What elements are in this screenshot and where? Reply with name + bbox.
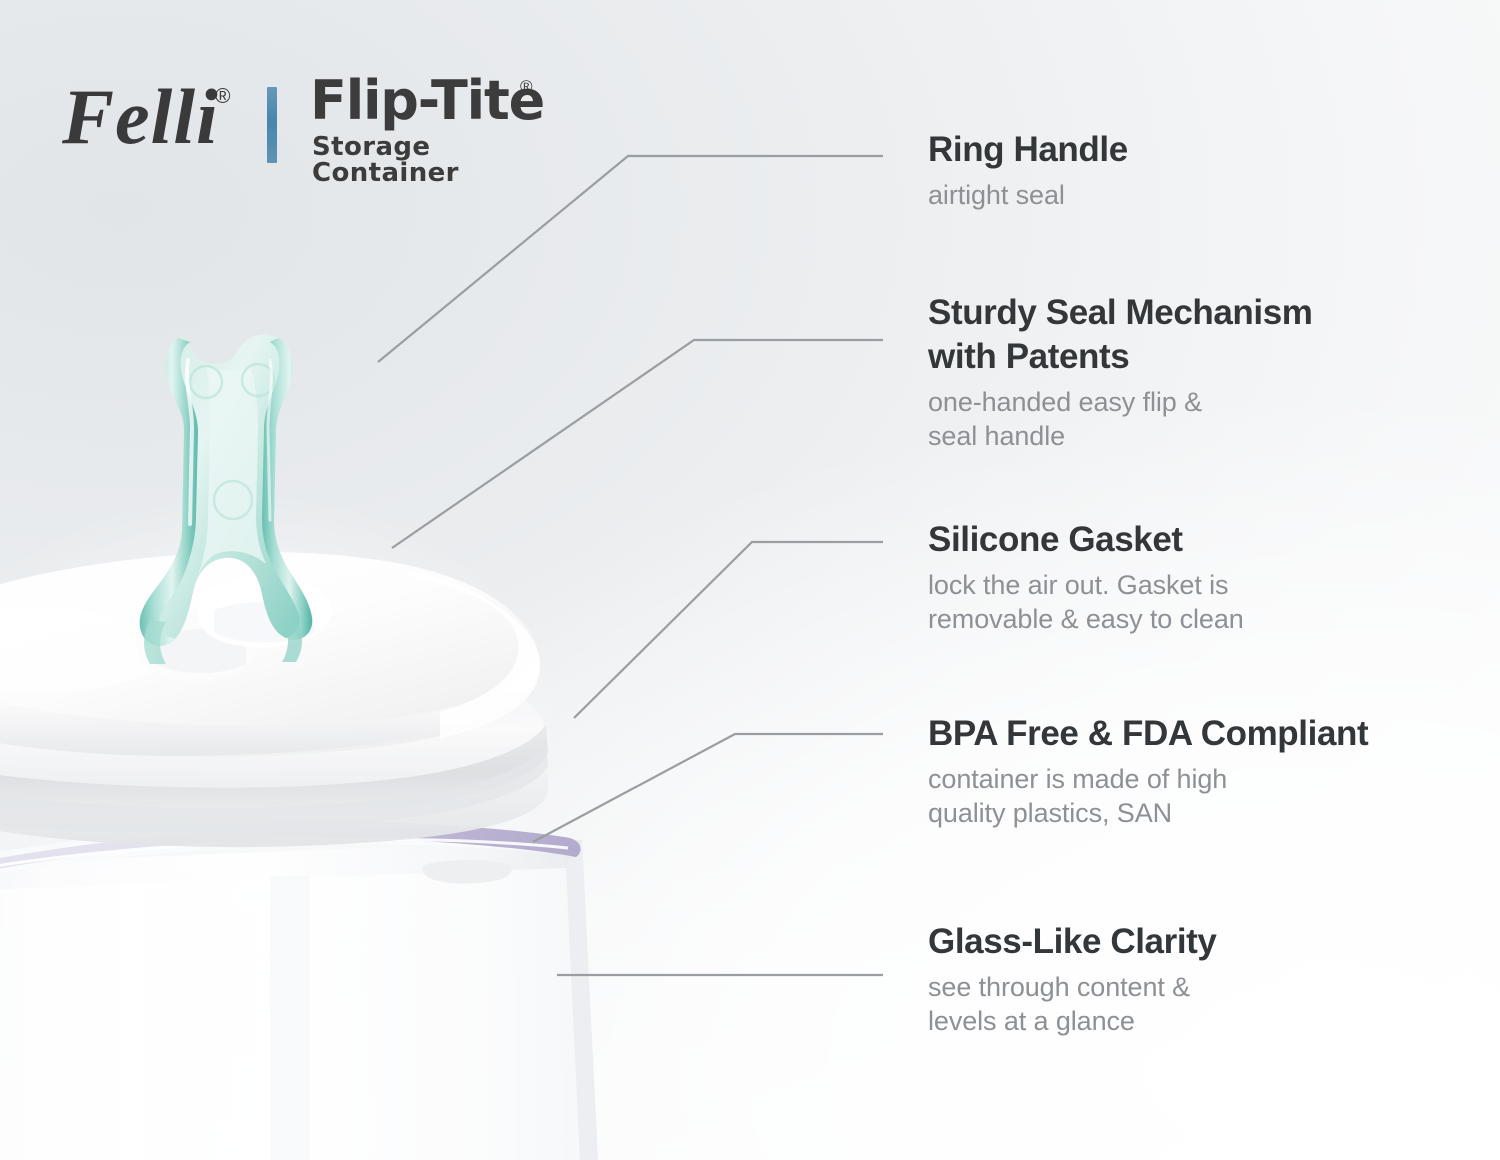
callout-subtitle: one-handed easy flip & seal handle [928, 385, 1313, 453]
callout-ring-handle: Ring Handle airtight seal [928, 128, 1128, 212]
registered-trademark-icon: ® [215, 86, 230, 107]
callout-title: Glass-Like Clarity [928, 920, 1217, 964]
callout-subtitle: lock the air out. Gasket is removable & … [928, 568, 1244, 636]
callout-title: Sturdy Seal Mechanism with Patents [928, 291, 1313, 379]
callout-subtitle: airtight seal [928, 178, 1128, 212]
brand-logo: Felli ® Flip-Tite ® Storage Container [62, 72, 562, 187]
product-line-name: Flip-Tite [310, 74, 544, 128]
logo-divider-bar [267, 87, 277, 163]
callout-subtitle: see through content & levels at a glance [928, 970, 1217, 1038]
brand-tagline: Storage Container [312, 134, 562, 186]
callout-subtitle: container is made of high quality plasti… [928, 762, 1368, 830]
product-registered-trademark-icon: ® [520, 78, 533, 95]
brand-name: Felli [62, 78, 219, 156]
product-infographic: Felli ® Flip-Tite ® Storage Container Ri… [0, 0, 1500, 1160]
callout-title: BPA Free & FDA Compliant [928, 712, 1368, 756]
callout-sturdy-seal-mechanism: Sturdy Seal Mechanism with Patents one-h… [928, 291, 1313, 453]
callout-glass-like-clarity: Glass-Like Clarity see through content &… [928, 920, 1217, 1038]
product-image [0, 320, 670, 1160]
product-illustration [0, 320, 670, 1160]
callout-title: Silicone Gasket [928, 518, 1244, 562]
callout-title: Ring Handle [928, 128, 1128, 172]
callout-bpa-free-fda-compliant: BPA Free & FDA Compliant container is ma… [928, 712, 1368, 830]
callout-silicone-gasket: Silicone Gasket lock the air out. Gasket… [928, 518, 1244, 636]
